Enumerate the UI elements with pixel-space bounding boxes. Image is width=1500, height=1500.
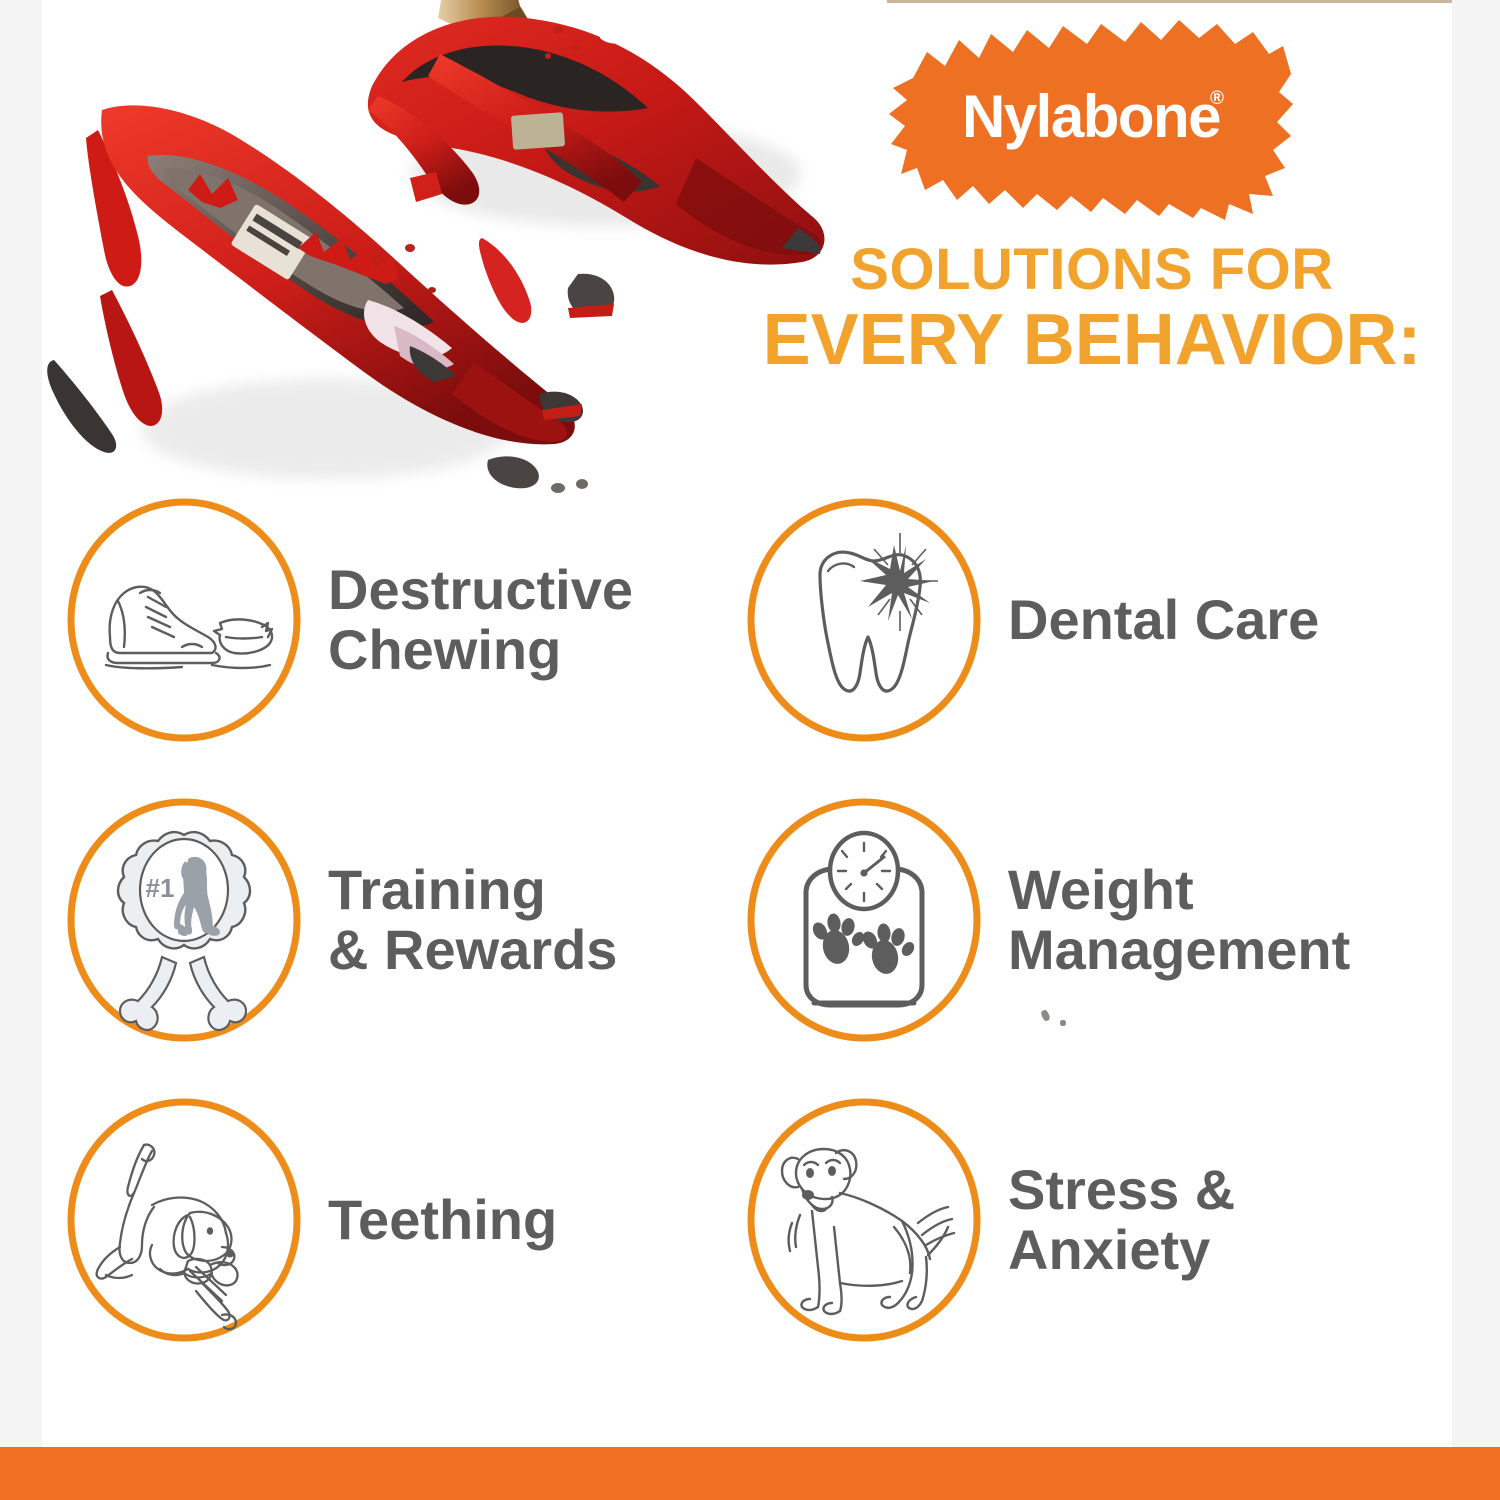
white-canvas: Nylabone ® SOLUTIONS FOR EVERY BEHAVIOR:: [42, 0, 1452, 1447]
top-hairline-divider: [887, 0, 1452, 3]
benefit-label: Training & Rewards: [328, 860, 617, 980]
benefit-item-weight-management[interactable]: Weight Management: [742, 770, 1442, 1070]
logo-text: Nylabone: [962, 82, 1220, 151]
nylabone-logo: Nylabone: [887, 18, 1307, 223]
scale-paws-icon: [742, 797, 986, 1043]
bottom-orange-bar: [0, 1447, 1500, 1500]
badge-number: #1: [146, 873, 175, 903]
benefits-column-right: Dental Care: [742, 470, 1442, 1370]
registered-trademark-icon: ®: [1210, 88, 1224, 110]
benefits-column-left: Destructive Chewing: [62, 470, 762, 1370]
logo-wordmark: Nylabone: [887, 18, 1307, 223]
benefit-label: Weight Management: [1008, 860, 1350, 980]
headline: SOLUTIONS FOR EVERY BEHAVIOR:: [682, 238, 1452, 378]
benefit-item-dental-care[interactable]: Dental Care: [742, 470, 1442, 770]
benefit-label: Teething: [328, 1190, 557, 1250]
sparkling-tooth-icon: [742, 497, 986, 743]
chewed-shoe-icon: [62, 497, 306, 743]
benefit-item-stress-anxiety[interactable]: Stress & Anxiety: [742, 1070, 1442, 1370]
headline-line-2: EVERY BEHAVIOR:: [682, 302, 1452, 378]
benefit-item-training-rewards[interactable]: #1 Training & Rewards: [62, 770, 762, 1070]
benefit-label: Dental Care: [1008, 590, 1319, 650]
headline-line-1: SOLUTIONS FOR: [682, 238, 1452, 302]
benefit-label: Destructive Chewing: [328, 560, 633, 680]
benefit-item-teething[interactable]: Teething: [62, 1070, 762, 1370]
infographic-root: Nylabone ® SOLUTIONS FOR EVERY BEHAVIOR:: [0, 0, 1500, 1500]
benefit-item-destructive-chewing[interactable]: Destructive Chewing: [62, 470, 762, 770]
benefit-label: Stress & Anxiety: [1008, 1160, 1235, 1280]
award-ribbon-dog-icon: #1: [62, 797, 306, 1043]
anxious-dog-icon: [742, 1097, 986, 1343]
puppy-chewing-toy-icon: [62, 1097, 306, 1343]
